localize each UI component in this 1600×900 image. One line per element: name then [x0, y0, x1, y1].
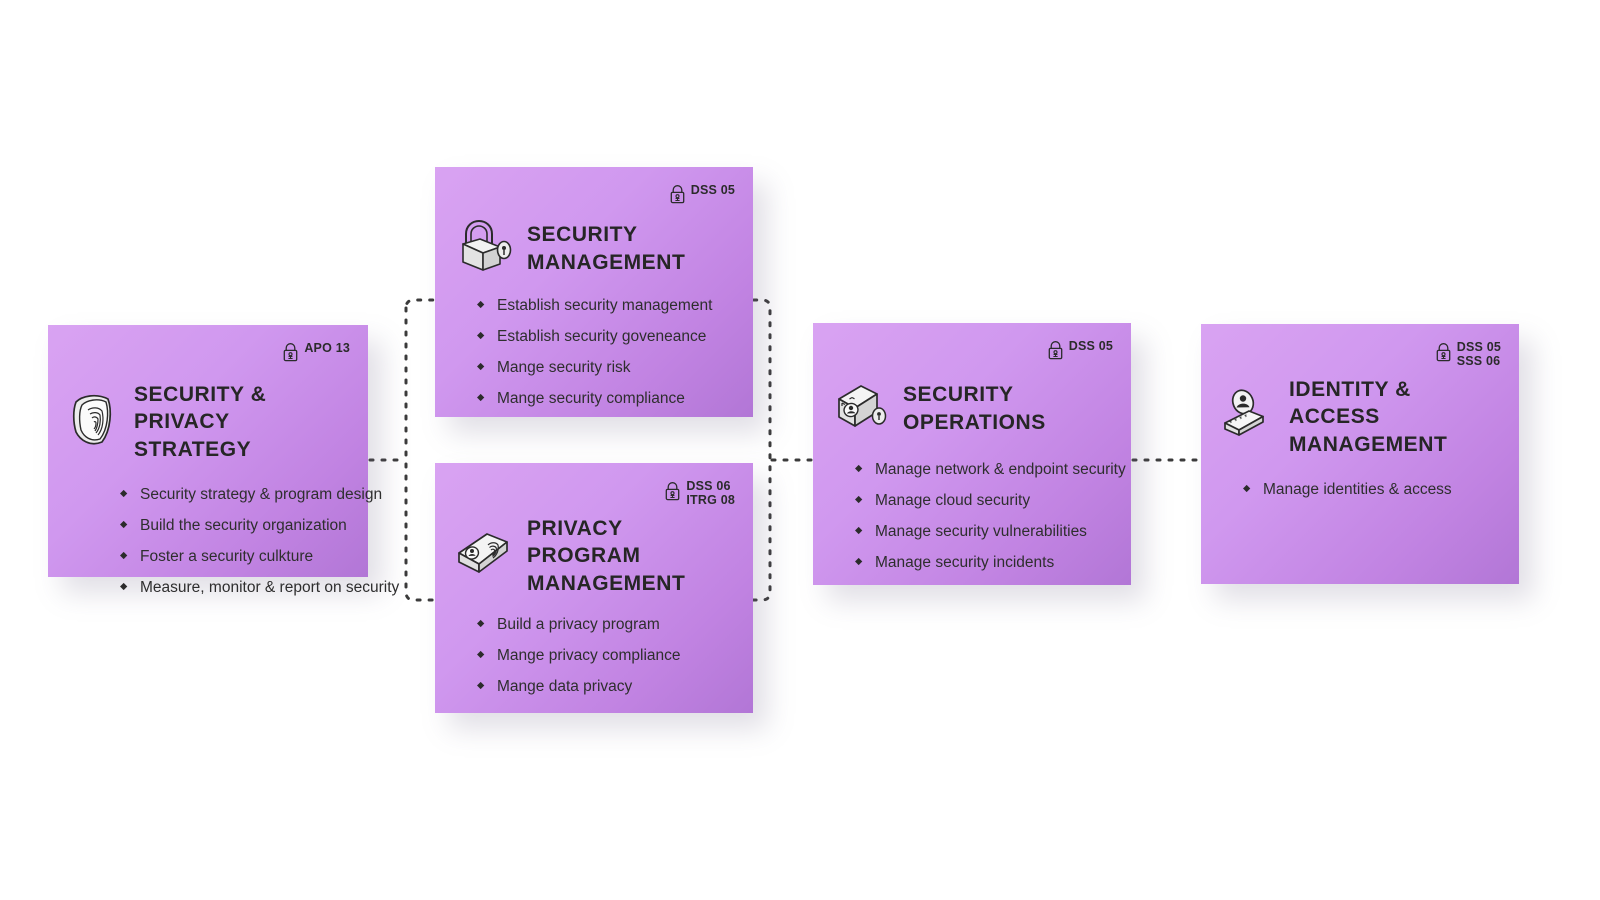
list-item: Measure, monitor & report on security [120, 578, 350, 598]
list-item: Build the security organization [120, 516, 350, 536]
diagram-canvas: APO 13 SECURITY & PRIVACY STRATEGY Se [0, 0, 1600, 900]
card-title-security-operations: SECURITY OPERATIONS [903, 381, 1046, 436]
card-title-identity-access: IDENTITY & ACCESS MANAGEMENT [1289, 376, 1501, 458]
badge-privacy: DSS 06 ITRG 08 [664, 479, 735, 507]
bullet-list-security-management: Establish security management Establish … [435, 296, 753, 410]
bullet-list-identity-access: Manage identities & access [1201, 480, 1519, 500]
padlock-icon [664, 480, 681, 507]
list-item: Mange security compliance [477, 389, 735, 409]
list-item: Mange data privacy [477, 677, 735, 697]
badge-identity-access: DSS 05 SSS 06 [1435, 340, 1501, 368]
list-item: Manage network & endpoint security [855, 460, 1113, 480]
badge-code: ITRG 08 [686, 493, 735, 507]
title-line: MANAGEMENT [527, 570, 735, 597]
list-item: Establish security goveneance [477, 327, 735, 347]
badge-strategy: APO 13 [282, 341, 350, 367]
badge-codes-security-management: DSS 05 [691, 183, 735, 197]
shield-fingerprint-icon [66, 390, 120, 453]
user-password-icon: * * * * [1219, 385, 1275, 448]
badge-codes-strategy: APO 13 [304, 341, 350, 355]
padlock-icon [669, 184, 686, 209]
badge-codes-security-operations: DSS 05 [1069, 339, 1113, 353]
padlock-key-icon [453, 217, 513, 280]
card-security-privacy-strategy[interactable]: APO 13 SECURITY & PRIVACY STRATEGY Se [48, 325, 368, 577]
title-line: PRIVACY STRATEGY [134, 408, 350, 463]
badge-security-management: DSS 05 [669, 183, 735, 209]
list-item: Foster a security culkture [120, 547, 350, 567]
user-screen-lock-icon [831, 377, 889, 440]
card-header-strategy: SECURITY & PRIVACY STRATEGY [48, 381, 368, 463]
title-line: SECURITY [903, 381, 1046, 408]
list-item: Establish security management [477, 296, 735, 316]
card-title-strategy: SECURITY & PRIVACY STRATEGY [134, 381, 350, 463]
card-title-privacy: PRIVACY PROGRAM MANAGEMENT [527, 515, 735, 597]
bullet-list-strategy: Security strategy & program design Build… [48, 485, 368, 599]
padlock-icon [1047, 340, 1064, 365]
list-item: Manage cloud security [855, 491, 1113, 511]
title-line: IDENTITY & ACCESS [1289, 376, 1501, 431]
list-item: Mange privacy compliance [477, 646, 735, 666]
list-item: Manage security vulnerabilities [855, 522, 1113, 542]
title-line: MANAGEMENT [527, 249, 685, 276]
card-security-management[interactable]: DSS 05 SECURITY MANAGEMENT [435, 167, 753, 417]
bullet-list-privacy: Build a privacy program Mange privacy co… [435, 615, 753, 697]
card-header-privacy: PRIVACY PROGRAM MANAGEMENT [435, 515, 753, 597]
badge-code: DSS 05 [691, 183, 735, 197]
title-line: PRIVACY PROGRAM [527, 515, 735, 570]
badge-code: APO 13 [304, 341, 350, 355]
list-item: Mange security risk [477, 358, 735, 378]
title-line: SECURITY & [134, 381, 350, 408]
list-item: Manage security incidents [855, 553, 1113, 573]
card-title-security-management: SECURITY MANAGEMENT [527, 221, 685, 276]
badge-code: DSS 05 [1457, 340, 1501, 354]
list-item: Security strategy & program design [120, 485, 350, 505]
card-security-operations[interactable]: DSS 05 SECURIT [813, 323, 1131, 585]
card-header-identity-access: * * * * IDENTITY & ACCESS MANAGEMENT [1201, 376, 1519, 458]
badge-code: SSS 06 [1457, 354, 1501, 368]
card-header-security-operations: SECURITY OPERATIONS [813, 377, 1131, 440]
bullet-list-security-operations: Manage network & endpoint security Manag… [813, 460, 1131, 574]
card-header-security-management: SECURITY MANAGEMENT [435, 217, 753, 280]
title-line: MANAGEMENT [1289, 431, 1501, 458]
list-item: Build a privacy program [477, 615, 735, 635]
id-card-fingerprint-icon [453, 525, 513, 586]
padlock-icon [282, 342, 299, 367]
list-item: Manage identities & access [1243, 480, 1501, 500]
badge-codes-privacy: DSS 06 ITRG 08 [686, 479, 735, 507]
badge-security-operations: DSS 05 [1047, 339, 1113, 365]
badge-code: DSS 05 [1069, 339, 1113, 353]
badge-codes-identity-access: DSS 05 SSS 06 [1457, 340, 1501, 368]
card-privacy-program-management[interactable]: DSS 06 ITRG 08 PRIVACY PROGR [435, 463, 753, 713]
card-identity-access-management[interactable]: DSS 05 SSS 06 * * * * [1201, 324, 1519, 584]
badge-code: DSS 06 [686, 479, 735, 493]
padlock-icon [1435, 341, 1452, 368]
title-line: SECURITY [527, 221, 685, 248]
title-line: OPERATIONS [903, 409, 1046, 436]
